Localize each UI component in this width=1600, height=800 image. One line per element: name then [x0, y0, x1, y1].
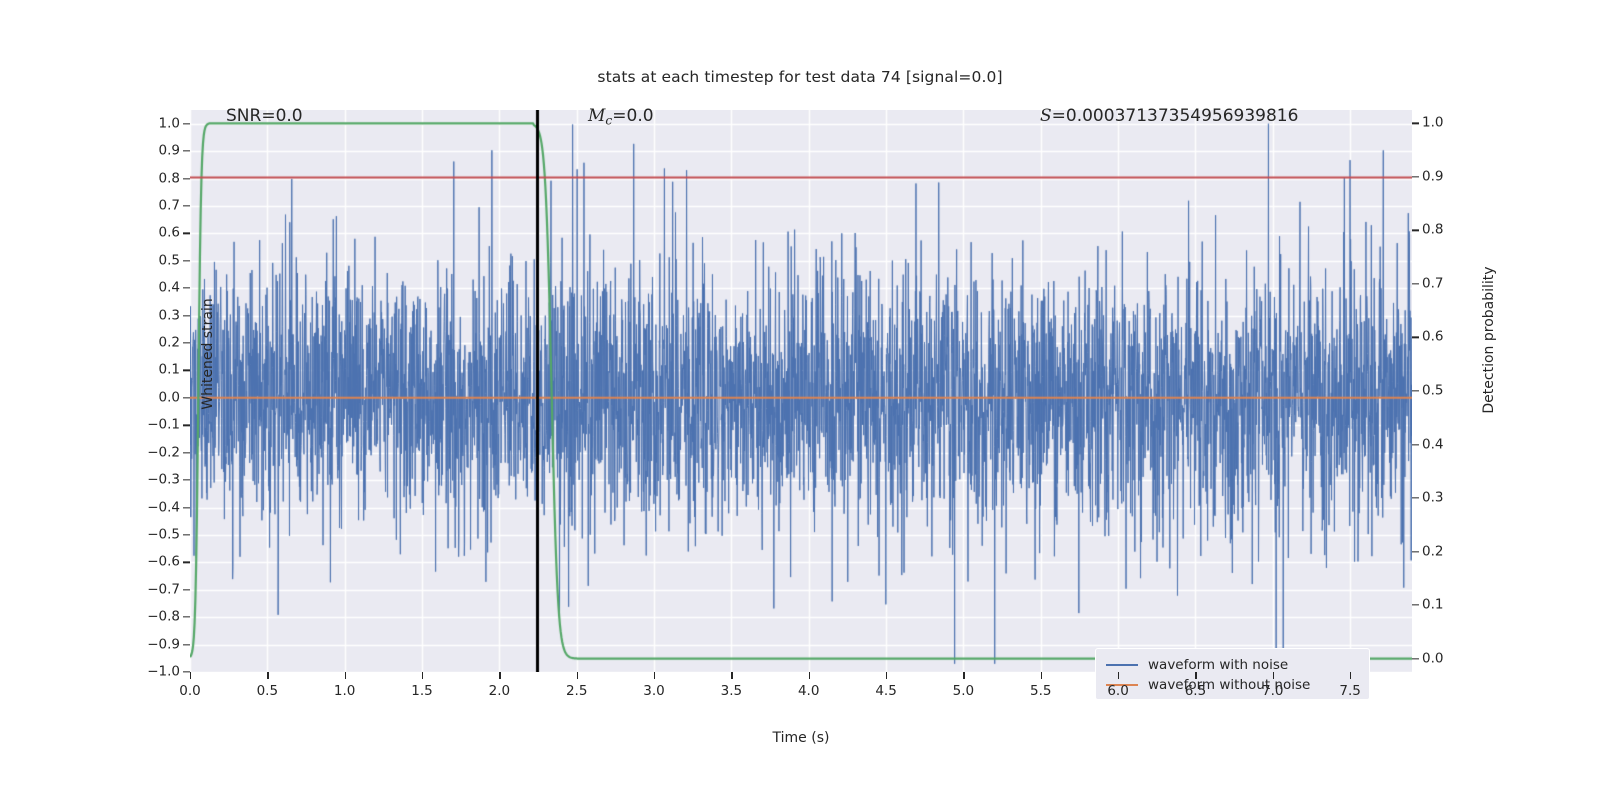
y-axis-left-tick-label: 0.8: [110, 172, 180, 186]
y-axis-left-tick-label: −1.0: [110, 665, 180, 679]
y-axis-left-tick-label: 0.2: [110, 336, 180, 350]
annotation-chirp-mass-symbol: M: [588, 106, 605, 126]
x-axis-tick-mark: [1273, 672, 1274, 679]
x-axis-tick-label: 2.5: [547, 685, 607, 699]
y-axis-right-tick-label: 0.8: [1422, 224, 1492, 238]
x-axis-tick-label: 6.5: [1165, 685, 1225, 699]
x-axis-tick-mark: [1041, 672, 1042, 679]
y-axis-left-tick-label: −0.1: [110, 419, 180, 433]
x-axis-tick-label: 4.0: [779, 685, 839, 699]
y-axis-left-tick-label: 0.6: [110, 227, 180, 241]
y-axis-right-tick-label: 0.7: [1422, 277, 1492, 291]
x-axis-tick-mark: [1350, 672, 1351, 679]
y-axis-right-tick-label: 0.1: [1422, 598, 1492, 612]
annotation-statistic: S=0.00037137354956939816: [1040, 106, 1298, 126]
x-axis-tick-label: 1.0: [315, 685, 375, 699]
y-axis-left-tick-label: 0.5: [110, 254, 180, 268]
x-axis-tick-mark: [731, 672, 732, 679]
y-axis-left-tick-mark: [183, 150, 190, 151]
y-axis-left-tick-mark: [183, 370, 190, 371]
x-axis-tick-label: 5.5: [1011, 685, 1071, 699]
y-axis-left-tick-label: 0.4: [110, 281, 180, 295]
x-axis-tick-label: 1.5: [392, 685, 452, 699]
y-axis-left-tick-label: −0.5: [110, 528, 180, 542]
x-axis-tick-mark: [267, 672, 268, 679]
x-axis-tick-label: 3.5: [701, 685, 761, 699]
y-axis-right-tick-mark: [1412, 176, 1419, 177]
x-axis-tick-label: 0.0: [160, 685, 220, 699]
y-axis-right-tick-mark: [1412, 283, 1419, 284]
x-axis-tick-mark: [422, 672, 423, 679]
y-axis-left-tick-mark: [183, 479, 190, 480]
y-axis-left-tick-label: −0.6: [110, 556, 180, 570]
x-axis-tick-mark: [1195, 672, 1196, 679]
x-axis-tick-label: 0.5: [237, 685, 297, 699]
legend-item-with-noise: waveform with noise: [1106, 655, 1359, 675]
x-axis-tick-label: 2.0: [469, 685, 529, 699]
x-axis-tick-mark: [963, 672, 964, 679]
y-axis-left-tick-label: −0.2: [110, 446, 180, 460]
y-axis-left-tick-mark: [183, 260, 190, 261]
x-axis-tick-mark: [1118, 672, 1119, 679]
y-axis-left-tick-mark: [183, 123, 190, 124]
y-axis-left-tick-label: 0.0: [110, 391, 180, 405]
x-axis-tick-mark: [577, 672, 578, 679]
y-axis-right-tick-mark: [1412, 230, 1419, 231]
y-axis-left-label: Whitened strain: [200, 264, 216, 444]
x-axis-tick-mark: [809, 672, 810, 679]
annotation-snr: SNR=0.0: [226, 106, 303, 126]
x-axis-tick-mark: [499, 672, 500, 679]
y-axis-left-tick-mark: [183, 315, 190, 316]
annotation-chirp-mass-value: =0.0: [612, 106, 653, 126]
x-axis-tick-label: 6.0: [1088, 685, 1148, 699]
figure: stats at each timestep for test data 74 …: [0, 0, 1600, 800]
y-axis-left-tick-label: −0.3: [110, 473, 180, 487]
y-axis-right-tick-mark: [1412, 123, 1419, 124]
x-axis-tick-label: 3.0: [624, 685, 684, 699]
legend-label-with-noise: waveform with noise: [1148, 657, 1288, 673]
y-axis-right-tick-label: 1.0: [1422, 117, 1492, 131]
y-axis-left-tick-label: 1.0: [110, 117, 180, 131]
y-axis-left-tick-label: −0.8: [110, 610, 180, 624]
y-axis-right-tick-mark: [1412, 337, 1419, 338]
y-axis-left-tick-mark: [183, 589, 190, 590]
y-axis-left-tick-mark: [183, 452, 190, 453]
legend-swatch-blue-line-icon: [1106, 664, 1138, 666]
y-axis-right-tick-mark: [1412, 604, 1419, 605]
y-axis-left-tick-label: 0.9: [110, 144, 180, 158]
y-axis-right-tick-mark: [1412, 390, 1419, 391]
annotation-statistic-value: =0.00037137354956939816: [1052, 106, 1299, 126]
y-axis-right-tick-mark: [1412, 444, 1419, 445]
annotation-chirp-mass: Mc=0.0: [588, 106, 654, 127]
x-axis-tick-mark: [654, 672, 655, 679]
x-axis-tick-mark: [345, 672, 346, 679]
y-axis-left-tick-mark: [183, 178, 190, 179]
y-axis-left-tick-label: −0.4: [110, 501, 180, 515]
x-axis-tick-label: 4.5: [856, 685, 916, 699]
page-title: stats at each timestep for test data 74 …: [0, 68, 1600, 86]
y-axis-left-tick-label: 0.1: [110, 364, 180, 378]
y-axis-right-tick-label: 0.9: [1422, 170, 1492, 184]
y-axis-right-tick-label: 0.4: [1422, 438, 1492, 452]
y-axis-left-tick-mark: [183, 507, 190, 508]
plot-canvas: [190, 110, 1412, 672]
y-axis-left-tick-label: 0.7: [110, 199, 180, 213]
x-axis-tick-label: 5.0: [933, 685, 993, 699]
y-axis-right-tick-label: 0.2: [1422, 545, 1492, 559]
y-axis-right-tick-mark: [1412, 551, 1419, 552]
y-axis-left-tick-mark: [183, 205, 190, 206]
y-axis-right-tick-label: 0.0: [1422, 652, 1492, 666]
y-axis-right-tick-mark: [1412, 497, 1419, 498]
y-axis-right-tick-label: 0.6: [1422, 331, 1492, 345]
y-axis-left-tick-mark: [183, 534, 190, 535]
plot-axes: SNR=0.0 Mc=0.0 S=0.00037137354956939816 …: [190, 110, 1412, 672]
y-axis-left-tick-mark: [183, 425, 190, 426]
x-axis-tick-label: 7.0: [1243, 685, 1303, 699]
y-axis-left-tick-mark: [183, 644, 190, 645]
y-axis-left-tick-mark: [183, 342, 190, 343]
x-axis-tick-mark: [886, 672, 887, 679]
x-axis-tick-label: 7.5: [1320, 685, 1380, 699]
y-axis-left-tick-mark: [183, 397, 190, 398]
y-axis-right-tick-label: 0.5: [1422, 384, 1492, 398]
y-axis-left-tick-label: −0.9: [110, 638, 180, 652]
y-axis-left-tick-mark: [183, 562, 190, 563]
y-axis-left-tick-mark: [183, 288, 190, 289]
y-axis-left-tick-label: −0.7: [110, 583, 180, 597]
y-axis-left-tick-label: 0.3: [110, 309, 180, 323]
annotation-statistic-symbol: S: [1040, 106, 1052, 126]
x-axis-label: Time (s): [190, 730, 1412, 746]
y-axis-right-tick-mark: [1412, 658, 1419, 659]
y-axis-left-tick-mark: [183, 617, 190, 618]
y-axis-left-tick-mark: [183, 671, 190, 672]
y-axis-left-tick-mark: [183, 233, 190, 234]
y-axis-right-tick-label: 0.3: [1422, 491, 1492, 505]
x-axis-tick-mark: [190, 672, 191, 679]
